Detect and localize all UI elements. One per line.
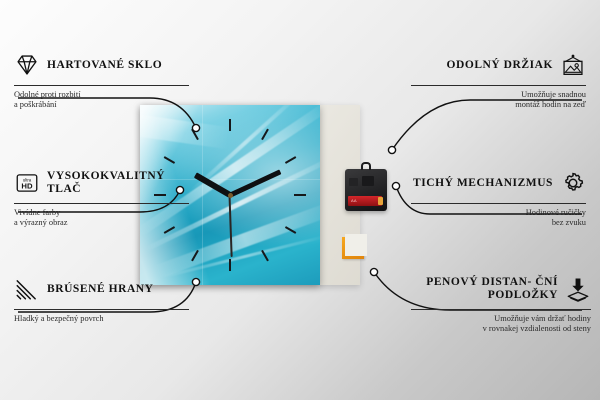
diagonal-stripes-icon bbox=[14, 276, 40, 302]
svg-text:HD: HD bbox=[21, 182, 33, 191]
ultra-hd-icon: ultra HD bbox=[14, 170, 40, 196]
battery-terminal bbox=[378, 197, 383, 205]
feature-divider bbox=[411, 309, 591, 310]
feature-header: PENOVÝ DISTAN- ČNÍ PODLOŽKY bbox=[411, 272, 591, 306]
press-down-layers-icon bbox=[565, 276, 591, 302]
feature-divider bbox=[14, 85, 189, 86]
battery-label: AA bbox=[351, 198, 357, 203]
mechanism-detail bbox=[349, 178, 358, 186]
feature-desc-line2: bez zvuku bbox=[411, 218, 586, 228]
feature-title: TICHÝ MECHANIZMUS bbox=[411, 177, 553, 190]
feature-desc-line1: Odolné proti rozbití bbox=[14, 90, 189, 100]
clock-center-pin bbox=[228, 193, 233, 198]
feature-polished-edges: BRÚSENÉ HRANY Hladký a bezpečný povrch bbox=[14, 272, 189, 324]
feature-desc-line2: a poškrábání bbox=[14, 100, 189, 110]
hour-tick bbox=[191, 250, 199, 261]
hour-tick bbox=[285, 226, 296, 234]
feature-header: BRÚSENÉ HRANY bbox=[14, 272, 189, 306]
feature-desc-line2: a výrazný obraz bbox=[14, 218, 189, 228]
foam-spacer-pad-top bbox=[345, 234, 367, 256]
clock-mechanism: AA bbox=[345, 169, 387, 211]
battery: AA bbox=[348, 196, 382, 206]
feature-silent-mechanism: TICHÝ MECHANIZMUS Hodinové ručičky bez z… bbox=[411, 166, 586, 229]
hour-tick bbox=[261, 250, 269, 261]
connector-endpoint bbox=[392, 182, 399, 189]
feature-desc-line2: montáž hodin na zeď bbox=[411, 100, 586, 110]
feature-title: ODOLNÝ DRŽIAK bbox=[411, 59, 553, 72]
connector-endpoint bbox=[388, 146, 395, 153]
mechanism-detail bbox=[362, 176, 374, 186]
hour-tick bbox=[229, 119, 231, 131]
feature-divider bbox=[411, 203, 586, 204]
feature-title: HARTOVANÉ SKLO bbox=[47, 59, 189, 72]
hour-tick bbox=[294, 194, 306, 196]
hour-tick bbox=[261, 129, 269, 140]
feature-desc-line1: Hodinové ručičky bbox=[411, 208, 586, 218]
hour-tick bbox=[191, 129, 199, 140]
feature-desc-line1: Vivídne farby bbox=[14, 208, 189, 218]
feature-desc-line1: Umožňuje snadnou bbox=[411, 90, 586, 100]
hour-tick bbox=[285, 156, 296, 164]
feature-hardened-glass: HARTOVANÉ SKLO Odolné proti rozbití a po… bbox=[14, 48, 189, 111]
feature-desc-line1: Umožňuje vám držať hodiny bbox=[411, 314, 591, 324]
feature-durable-hanger: ODOLNÝ DRŽIAK Umožňuje snadnou montáž ho… bbox=[411, 48, 586, 111]
feature-divider bbox=[411, 85, 586, 86]
feature-title: VYSOKOKVALITNÝ TLAČ bbox=[47, 170, 189, 196]
foam-spacer-pad bbox=[342, 237, 364, 259]
mechanism-shaft bbox=[361, 162, 371, 170]
feature-title: PENOVÝ DISTAN- ČNÍ PODLOŽKY bbox=[411, 276, 558, 302]
feature-title: BRÚSENÉ HRANY bbox=[47, 283, 189, 296]
infographic-stage: AA bbox=[0, 0, 600, 400]
feature-divider bbox=[14, 203, 189, 204]
hour-tick bbox=[229, 259, 231, 271]
gear-icon bbox=[560, 170, 586, 196]
feature-high-quality-print: ultra HD VYSOKOKVALITNÝ TLAČ Vivídne far… bbox=[14, 166, 189, 229]
feature-header: ultra HD VYSOKOKVALITNÝ TLAČ bbox=[14, 166, 189, 200]
feature-desc-line2: v rovnakej vzdialenosti od steny bbox=[411, 324, 591, 334]
feature-desc-line1: Hladký a bezpečný povrch bbox=[14, 314, 189, 324]
framed-picture-icon bbox=[560, 52, 586, 78]
feature-divider bbox=[14, 309, 189, 310]
feature-foam-spacers: PENOVÝ DISTAN- ČNÍ PODLOŽKY Umožňuje vám… bbox=[411, 272, 591, 335]
feature-header: TICHÝ MECHANIZMUS bbox=[411, 166, 586, 200]
diamond-icon bbox=[14, 52, 40, 78]
feature-header: ODOLNÝ DRŽIAK bbox=[411, 48, 586, 82]
hour-tick bbox=[164, 156, 175, 164]
connector-endpoint bbox=[370, 268, 377, 275]
feature-header: HARTOVANÉ SKLO bbox=[14, 48, 189, 82]
